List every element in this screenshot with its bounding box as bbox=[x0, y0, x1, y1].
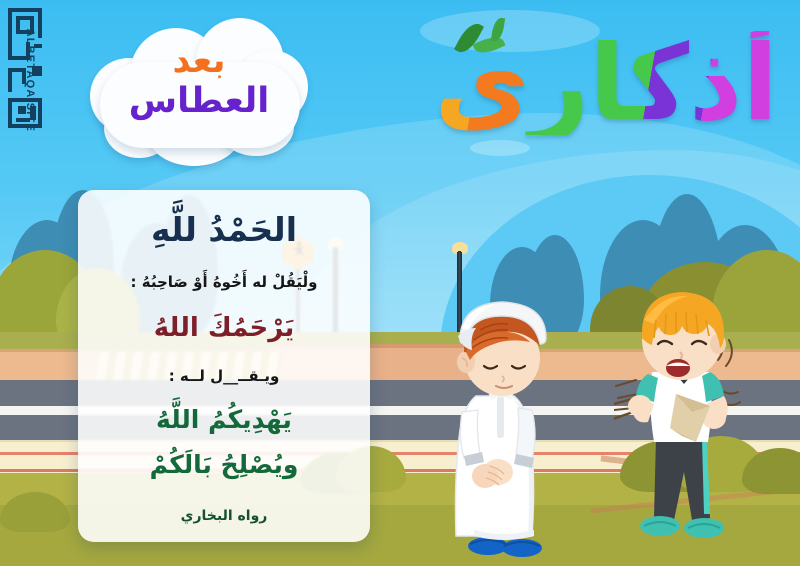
dhikr-reply-green-1: يَهْدِيكُمُ اللَّهُ bbox=[94, 403, 354, 437]
dhikr-response-red: يَرْحَمُكَ اللهُ bbox=[94, 311, 354, 346]
dhikr-narration-2: ويـقــ__ل لــه : bbox=[94, 366, 354, 386]
dhikr-card: الحَمْدُ للَّهِ ولْيَقُلْ له أَخُوهُ أَو… bbox=[78, 190, 370, 542]
topic-cloud-text: بعد العطاس bbox=[84, 42, 314, 121]
boy-in-thobe bbox=[440, 300, 570, 566]
site-url-label: ALBETAQA.SITE bbox=[16, 6, 36, 132]
dhikr-line-hamd: الحَمْدُ للَّهِ bbox=[94, 208, 354, 253]
series-title: أذكاري bbox=[434, 18, 778, 148]
site-logo[interactable]: ALBETAQA.SITE bbox=[6, 6, 72, 138]
topic-cloud: بعد العطاس bbox=[84, 12, 314, 168]
sneezing-boy bbox=[614, 286, 754, 566]
dhikr-narration-1: ولْيَقُلْ له أَخُوهُ أَوْ صَاحِبُهُ : bbox=[94, 272, 354, 292]
poster-root: الحَمْدُ للَّهِ ولْيَقُلْ له أَخُوهُ أَو… bbox=[0, 0, 800, 566]
dhikr-reply-green-2: ويُصْلِحُ بَالَكُمْ bbox=[94, 448, 354, 482]
dhikr-source: رواه البخاري bbox=[94, 507, 354, 526]
topic-line-1: بعد bbox=[84, 42, 314, 81]
topic-line-2: العطاس bbox=[84, 81, 314, 121]
